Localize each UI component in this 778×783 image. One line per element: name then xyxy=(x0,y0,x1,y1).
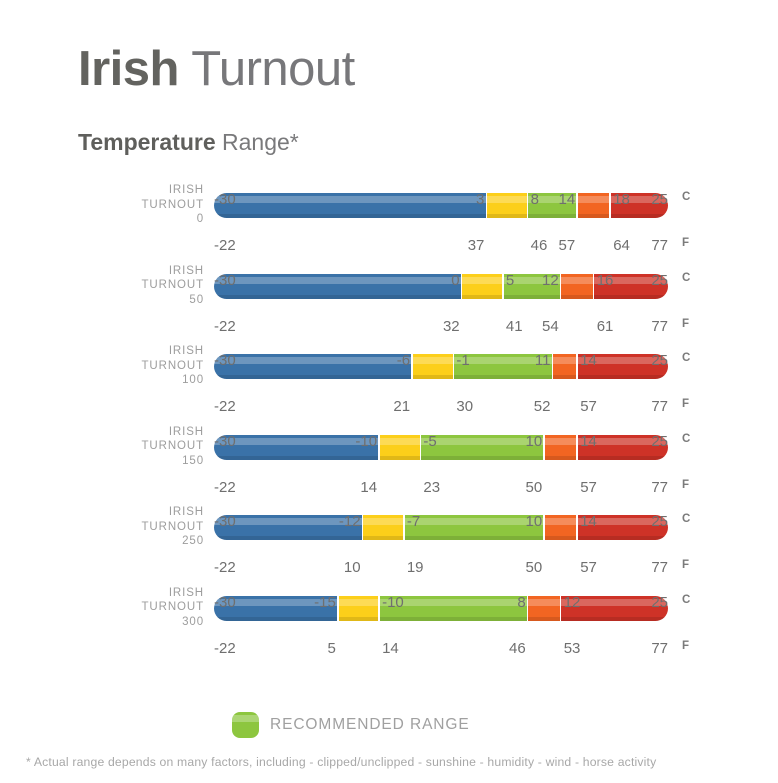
tick-label-fahrenheit: -22 xyxy=(214,237,236,254)
bar-segment xyxy=(379,435,420,460)
row-label-line: TURNOUT xyxy=(104,198,204,213)
bar-segment xyxy=(214,193,486,218)
tick-label-fahrenheit: 52 xyxy=(534,398,551,415)
tick-label-celsius: 12 xyxy=(564,594,581,611)
footnote: * Actual range depends on many factors, … xyxy=(26,755,656,769)
tick-label-celsius: 25 xyxy=(651,352,668,369)
tick-label-fahrenheit: 37 xyxy=(468,237,485,254)
tick-label-celsius: 10 xyxy=(525,513,542,530)
tick-label-celsius: 16 xyxy=(597,272,614,289)
row-label-line: 300 xyxy=(104,615,204,630)
tick-label-celsius: 5 xyxy=(506,272,514,289)
segment-divider xyxy=(337,596,339,621)
unit-label-fahrenheit: F xyxy=(682,237,690,249)
segment-divider xyxy=(576,354,578,379)
tick-label-fahrenheit: -22 xyxy=(214,559,236,576)
tick-label-celsius: -30 xyxy=(214,513,236,530)
bar-segment xyxy=(544,435,577,460)
tick-label-fahrenheit: 54 xyxy=(542,318,559,335)
bar-segment xyxy=(214,435,379,460)
row-label-line: TURNOUT xyxy=(104,439,204,454)
unit-label-celsius: C xyxy=(682,594,691,606)
row-label-line: TURNOUT xyxy=(104,600,204,615)
tick-label-celsius: -30 xyxy=(214,191,236,208)
tick-label-fahrenheit: 64 xyxy=(613,237,630,254)
tick-label-fahrenheit: 53 xyxy=(564,640,581,657)
tick-label-fahrenheit: 57 xyxy=(580,398,597,415)
unit-label-celsius: C xyxy=(682,352,691,364)
chart-row: IRISHTURNOUT50-30-22032541125416612577CF xyxy=(0,258,778,322)
unit-label-celsius: C xyxy=(682,513,691,525)
tick-label-fahrenheit: 77 xyxy=(651,237,668,254)
segment-divider xyxy=(527,596,529,621)
row-label-line: IRISH xyxy=(104,183,204,198)
tick-label-fahrenheit: 77 xyxy=(651,479,668,496)
segment-divider xyxy=(502,274,504,299)
temperature-range-chart: IRISHTURNOUT0-30-22337846145718642577CFI… xyxy=(0,0,778,700)
unit-label-fahrenheit: F xyxy=(682,318,690,330)
segment-divider xyxy=(403,515,405,540)
segment-divider xyxy=(461,274,463,299)
tick-label-celsius: -30 xyxy=(214,272,236,289)
tick-label-fahrenheit: 41 xyxy=(506,318,523,335)
tick-label-fahrenheit: 77 xyxy=(651,559,668,576)
tick-label-celsius: 8 xyxy=(531,191,539,208)
bar-segment xyxy=(214,354,412,379)
segment-divider xyxy=(420,435,422,460)
row-label-line: IRISH xyxy=(104,264,204,279)
segment-divider xyxy=(576,193,578,218)
segment-divider xyxy=(560,596,562,621)
row-label-line: IRISH xyxy=(104,425,204,440)
tick-label-fahrenheit: 46 xyxy=(531,237,548,254)
bar-segment xyxy=(552,354,577,379)
bar-segment xyxy=(338,596,379,621)
row-label: IRISHTURNOUT0 xyxy=(104,183,204,227)
row-label: IRISHTURNOUT300 xyxy=(104,586,204,630)
row-label-line: TURNOUT xyxy=(104,278,204,293)
chart-row: IRISHTURNOUT300-30-22-155-10148461253257… xyxy=(0,580,778,644)
segment-divider xyxy=(378,435,380,460)
bar-segment xyxy=(544,515,577,540)
tick-label-celsius: 25 xyxy=(651,594,668,611)
tick-label-fahrenheit: -22 xyxy=(214,318,236,335)
tick-label-fahrenheit: 46 xyxy=(509,640,526,657)
unit-label-fahrenheit: F xyxy=(682,559,690,571)
chart-row: IRISHTURNOUT100-30-22-621-13011521457257… xyxy=(0,338,778,402)
segment-divider xyxy=(552,354,554,379)
segment-divider xyxy=(543,515,545,540)
tick-label-fahrenheit: 57 xyxy=(580,559,597,576)
segment-divider xyxy=(453,354,455,379)
unit-label-celsius: C xyxy=(682,433,691,445)
temperature-bar: -30-22-1014-523105014572577 xyxy=(214,435,668,460)
row-label-line: IRISH xyxy=(104,505,204,520)
temperature-bar: -30-22032541125416612577 xyxy=(214,274,668,299)
tick-label-celsius: -30 xyxy=(214,352,236,369)
segment-divider xyxy=(362,515,364,540)
bar-segment xyxy=(561,274,594,299)
temperature-bar: -30-22-1210-719105014572577 xyxy=(214,515,668,540)
segment-divider xyxy=(609,193,611,218)
tick-label-fahrenheit: 77 xyxy=(651,398,668,415)
segment-divider xyxy=(593,274,595,299)
tick-label-celsius: -15 xyxy=(314,594,336,611)
chart-row: IRISHTURNOUT150-30-22-1014-5231050145725… xyxy=(0,419,778,483)
tick-label-celsius: -6 xyxy=(397,352,410,369)
tick-label-celsius: -30 xyxy=(214,433,236,450)
tick-label-celsius: 25 xyxy=(651,433,668,450)
tick-label-celsius: -10 xyxy=(355,433,377,450)
legend: RECOMMENDED RANGE xyxy=(232,712,470,738)
bar-segment xyxy=(486,193,527,218)
row-label-line: TURNOUT xyxy=(104,359,204,374)
tick-label-celsius: 8 xyxy=(517,594,525,611)
unit-label-fahrenheit: F xyxy=(682,640,690,652)
tick-label-fahrenheit: -22 xyxy=(214,479,236,496)
bar-segment xyxy=(214,274,462,299)
tick-label-celsius: -5 xyxy=(423,433,436,450)
row-label-line: 150 xyxy=(104,454,204,469)
tick-label-fahrenheit: 30 xyxy=(456,398,473,415)
chart-row: IRISHTURNOUT250-30-22-1210-7191050145725… xyxy=(0,499,778,563)
temperature-bar: -30-22337846145718642577 xyxy=(214,193,668,218)
recommended-range-swatch-icon xyxy=(232,712,259,738)
chart-row: IRISHTURNOUT0-30-22337846145718642577CF xyxy=(0,177,778,241)
tick-label-fahrenheit: 21 xyxy=(393,398,410,415)
bar-segment xyxy=(528,596,561,621)
tick-label-celsius: 25 xyxy=(651,513,668,530)
row-label-line: 100 xyxy=(104,373,204,388)
tick-label-fahrenheit: 77 xyxy=(651,640,668,657)
bar-segment xyxy=(404,515,544,540)
unit-label-fahrenheit: F xyxy=(682,479,690,491)
row-label: IRISHTURNOUT150 xyxy=(104,425,204,469)
tick-label-celsius: -7 xyxy=(407,513,420,530)
tick-label-fahrenheit: 50 xyxy=(525,559,542,576)
tick-label-celsius: 14 xyxy=(580,513,597,530)
tick-label-celsius: 3 xyxy=(476,191,484,208)
tick-label-celsius: 14 xyxy=(580,352,597,369)
tick-label-celsius: 0 xyxy=(451,272,459,289)
tick-label-fahrenheit: 5 xyxy=(327,640,335,657)
temperature-bar: -30-22-155-101484612532577 xyxy=(214,596,668,621)
tick-label-celsius: 10 xyxy=(525,433,542,450)
bar-segment xyxy=(412,354,453,379)
tick-label-celsius: -30 xyxy=(214,594,236,611)
tick-label-celsius: 25 xyxy=(651,191,668,208)
legend-label: RECOMMENDED RANGE xyxy=(270,716,470,734)
tick-label-celsius: -1 xyxy=(456,352,469,369)
tick-label-celsius: 14 xyxy=(580,433,597,450)
tick-label-celsius: 14 xyxy=(559,191,576,208)
tick-label-fahrenheit: -22 xyxy=(214,640,236,657)
tick-label-fahrenheit: 14 xyxy=(360,479,377,496)
segment-divider xyxy=(378,596,380,621)
tick-label-fahrenheit: 57 xyxy=(580,479,597,496)
tick-label-fahrenheit: 23 xyxy=(423,479,440,496)
tick-label-fahrenheit: 50 xyxy=(525,479,542,496)
tick-label-celsius: 11 xyxy=(535,352,551,369)
row-label-line: 250 xyxy=(104,534,204,549)
segment-divider xyxy=(527,193,529,218)
temperature-bar: -30-22-621-130115214572577 xyxy=(214,354,668,379)
row-label: IRISHTURNOUT100 xyxy=(104,344,204,388)
row-label: IRISHTURNOUT250 xyxy=(104,505,204,549)
tick-label-celsius: 12 xyxy=(542,272,559,289)
unit-label-celsius: C xyxy=(682,191,691,203)
row-label-line: IRISH xyxy=(104,586,204,601)
tick-label-fahrenheit: 19 xyxy=(407,559,424,576)
row-label-line: TURNOUT xyxy=(104,520,204,535)
tick-label-fahrenheit: 32 xyxy=(443,318,460,335)
tick-label-fahrenheit: 77 xyxy=(651,318,668,335)
row-label: IRISHTURNOUT50 xyxy=(104,264,204,308)
tick-label-celsius: -10 xyxy=(382,594,404,611)
tick-label-fahrenheit: 10 xyxy=(344,559,361,576)
tick-label-fahrenheit: 14 xyxy=(382,640,399,657)
row-label-line: 0 xyxy=(104,212,204,227)
tick-label-celsius: 18 xyxy=(613,191,630,208)
tick-label-fahrenheit: -22 xyxy=(214,398,236,415)
tick-label-fahrenheit: 57 xyxy=(559,237,576,254)
row-label-line: IRISH xyxy=(104,344,204,359)
segment-divider xyxy=(486,193,488,218)
row-label-line: 50 xyxy=(104,293,204,308)
tick-label-celsius: -12 xyxy=(339,513,361,530)
unit-label-celsius: C xyxy=(682,272,691,284)
bar-segment xyxy=(577,193,610,218)
unit-label-fahrenheit: F xyxy=(682,398,690,410)
segment-divider xyxy=(411,354,413,379)
segment-divider xyxy=(576,435,578,460)
segment-divider xyxy=(543,435,545,460)
bar-segment xyxy=(363,515,404,540)
tick-label-celsius: 25 xyxy=(651,272,668,289)
segment-divider xyxy=(560,274,562,299)
segment-divider xyxy=(576,515,578,540)
bar-segment xyxy=(462,274,503,299)
tick-label-fahrenheit: 61 xyxy=(597,318,614,335)
